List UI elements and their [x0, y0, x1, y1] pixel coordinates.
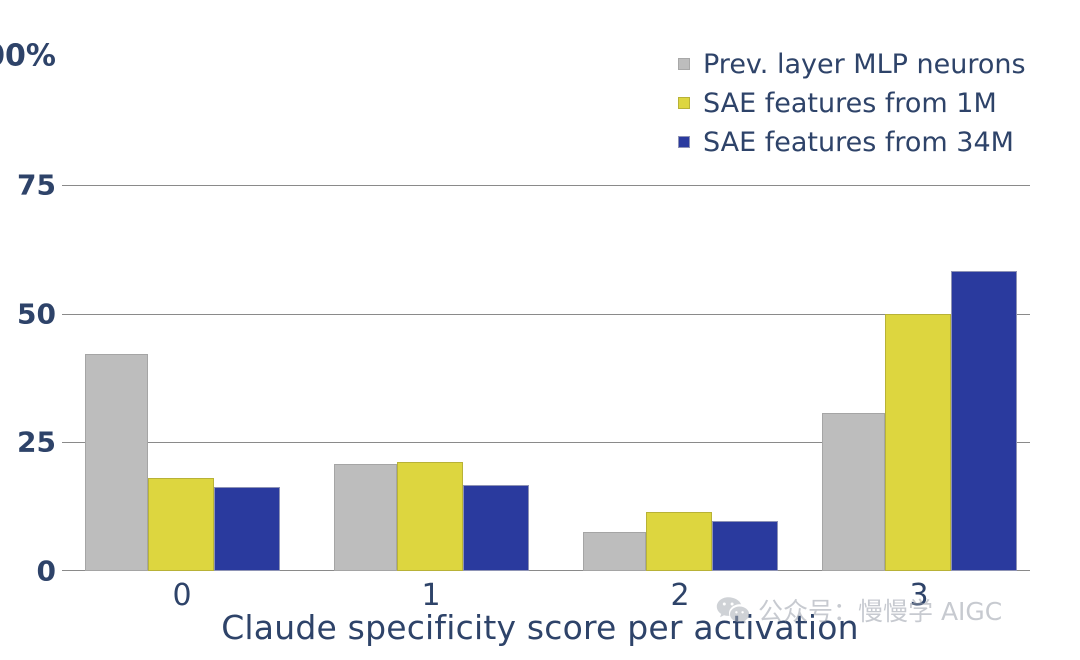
- y-tick-label-25: 25: [17, 426, 56, 459]
- bar-group0-sae-1m: [148, 478, 214, 571]
- bar-group2-sae-34m: [712, 521, 778, 571]
- x-axis-title: Claude specificity score per activation: [0, 608, 1080, 647]
- bar-group3-sae-34m: [951, 271, 1017, 571]
- bar-group3-sae-1m: [885, 314, 951, 572]
- bar-group1-prev-layer-mlp-neurons: [334, 464, 397, 571]
- y-tick-label-50: 50: [17, 297, 56, 330]
- legend-label-sae-1m: SAE features from 1M: [703, 90, 997, 117]
- chart-legend: Prev. layer MLP neurons SAE features fro…: [678, 46, 1058, 163]
- legend-label-sae-34m: SAE features from 34M: [703, 129, 1014, 156]
- bar-group1-sae-34m: [463, 485, 529, 571]
- y-tick-label-75: 75: [17, 168, 56, 201]
- gridline-75: [62, 185, 1030, 186]
- legend-label-prev-layer-mlp-neurons: Prev. layer MLP neurons: [703, 51, 1026, 78]
- bar-group1-sae-1m: [397, 462, 463, 571]
- y-axis-tick-labels: 100% 75 50 25 0: [0, 56, 56, 571]
- legend-item-prev-layer-mlp-neurons[interactable]: Prev. layer MLP neurons: [678, 46, 1058, 82]
- bar-group0-sae-34m: [214, 487, 280, 571]
- y-tick-label-0: 0: [37, 555, 56, 588]
- legend-item-sae-1m[interactable]: SAE features from 1M: [678, 85, 1058, 121]
- bar-group2-sae-1m: [646, 512, 712, 571]
- bar-group0-prev-layer-mlp-neurons: [85, 354, 148, 571]
- legend-swatch-icon-yellow: [678, 97, 690, 109]
- bar-group2-prev-layer-mlp-neurons: [583, 532, 646, 571]
- legend-swatch-icon-gray: [678, 58, 690, 70]
- bar-group3-prev-layer-mlp-neurons: [822, 413, 885, 571]
- y-tick-label-100: 100%: [0, 39, 56, 74]
- bar-chart: 100% 75 50 25 0 0 1 2 3 Claude specifici…: [0, 0, 1080, 660]
- legend-swatch-icon-blue: [678, 136, 690, 148]
- legend-item-sae-34m[interactable]: SAE features from 34M: [678, 124, 1058, 160]
